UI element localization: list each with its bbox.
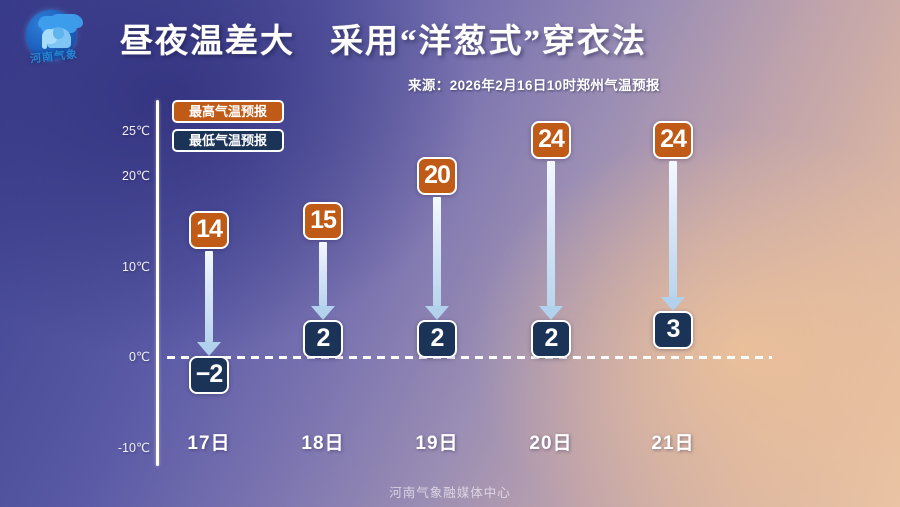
x-axis-date-label: 21日 [616, 428, 730, 455]
elephant-ear-icon [53, 27, 64, 39]
henan-weather-logo: 河南气象 [17, 8, 91, 70]
x-axis-date-label: 18日 [266, 428, 380, 455]
temperature-range-arrow-shaft [669, 161, 677, 297]
y-axis-tick-label: -10℃ [100, 440, 150, 455]
high-temperature-badge: 24 [653, 121, 693, 159]
y-axis-tick-label: 0℃ [100, 349, 150, 364]
low-temperature-badge: 3 [653, 311, 693, 349]
high-temperature-badge: 20 [417, 157, 457, 195]
chart-column: 14−217日 [152, 0, 266, 507]
weather-forecast-graphic: 河南气象 昼夜温差大 采用“洋葱式”穿衣法 来源：2026年2月16日10时郑州… [0, 0, 900, 507]
chart-column: 15218日 [266, 0, 380, 507]
y-axis-ticks: 25℃20℃10℃0℃-10℃ [96, 0, 150, 507]
temperature-range-arrow-head [661, 297, 685, 311]
high-temperature-badge: 15 [303, 202, 343, 240]
temperature-range-arrow-shaft [319, 242, 327, 306]
low-temperature-badge: 2 [303, 320, 343, 358]
y-axis-tick-label: 10℃ [100, 259, 150, 274]
x-axis-date-label: 19日 [380, 428, 494, 455]
x-axis-date-label: 17日 [152, 428, 266, 455]
high-temperature-badge: 24 [531, 121, 571, 159]
chart-column: 24321日 [616, 0, 730, 507]
elephant-trunk-icon [42, 37, 47, 49]
chart-column: 24220日 [494, 0, 608, 507]
x-axis-date-label: 20日 [494, 428, 608, 455]
y-axis-tick-label: 20℃ [100, 168, 150, 183]
chart-column: 20219日 [380, 0, 494, 507]
temperature-range-arrow-head [539, 306, 563, 320]
low-temperature-badge: 2 [417, 320, 457, 358]
temperature-range-arrow-shaft [205, 251, 213, 342]
temperature-range-arrow-shaft [433, 197, 441, 306]
temperature-range-arrow-head [311, 306, 335, 320]
temperature-range-arrow-head [425, 306, 449, 320]
logo-text: 河南气象 [16, 44, 91, 68]
low-temperature-badge: −2 [189, 356, 229, 394]
low-temperature-badge: 2 [531, 320, 571, 358]
footer-credit: 河南气象融媒体中心 [0, 482, 900, 501]
y-axis-tick-label: 25℃ [100, 123, 150, 138]
high-temperature-badge: 14 [189, 211, 229, 249]
temperature-range-arrow-shaft [547, 161, 555, 306]
temperature-range-arrow-head [197, 342, 221, 356]
